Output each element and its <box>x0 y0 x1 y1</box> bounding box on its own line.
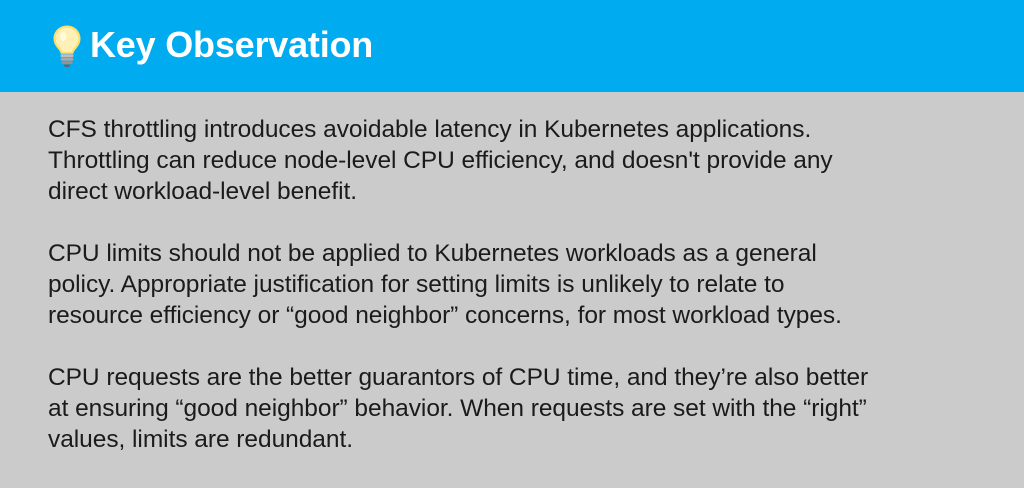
header-band: Key Observation <box>0 0 1024 92</box>
paragraph-1: CFS throttling introduces avoidable late… <box>48 114 984 207</box>
key-observation-slide: Key Observation CFS throttling introduce… <box>0 0 1024 488</box>
paragraph-3: CPU requests are the better guarantors o… <box>48 362 984 455</box>
header-title-row: Key Observation <box>50 23 373 67</box>
paragraph-2: CPU limits should not be applied to Kube… <box>48 238 984 331</box>
body-content: CFS throttling introduces avoidable late… <box>0 92 1024 488</box>
page-title: Key Observation <box>90 27 373 63</box>
lightbulb-icon <box>50 23 84 67</box>
